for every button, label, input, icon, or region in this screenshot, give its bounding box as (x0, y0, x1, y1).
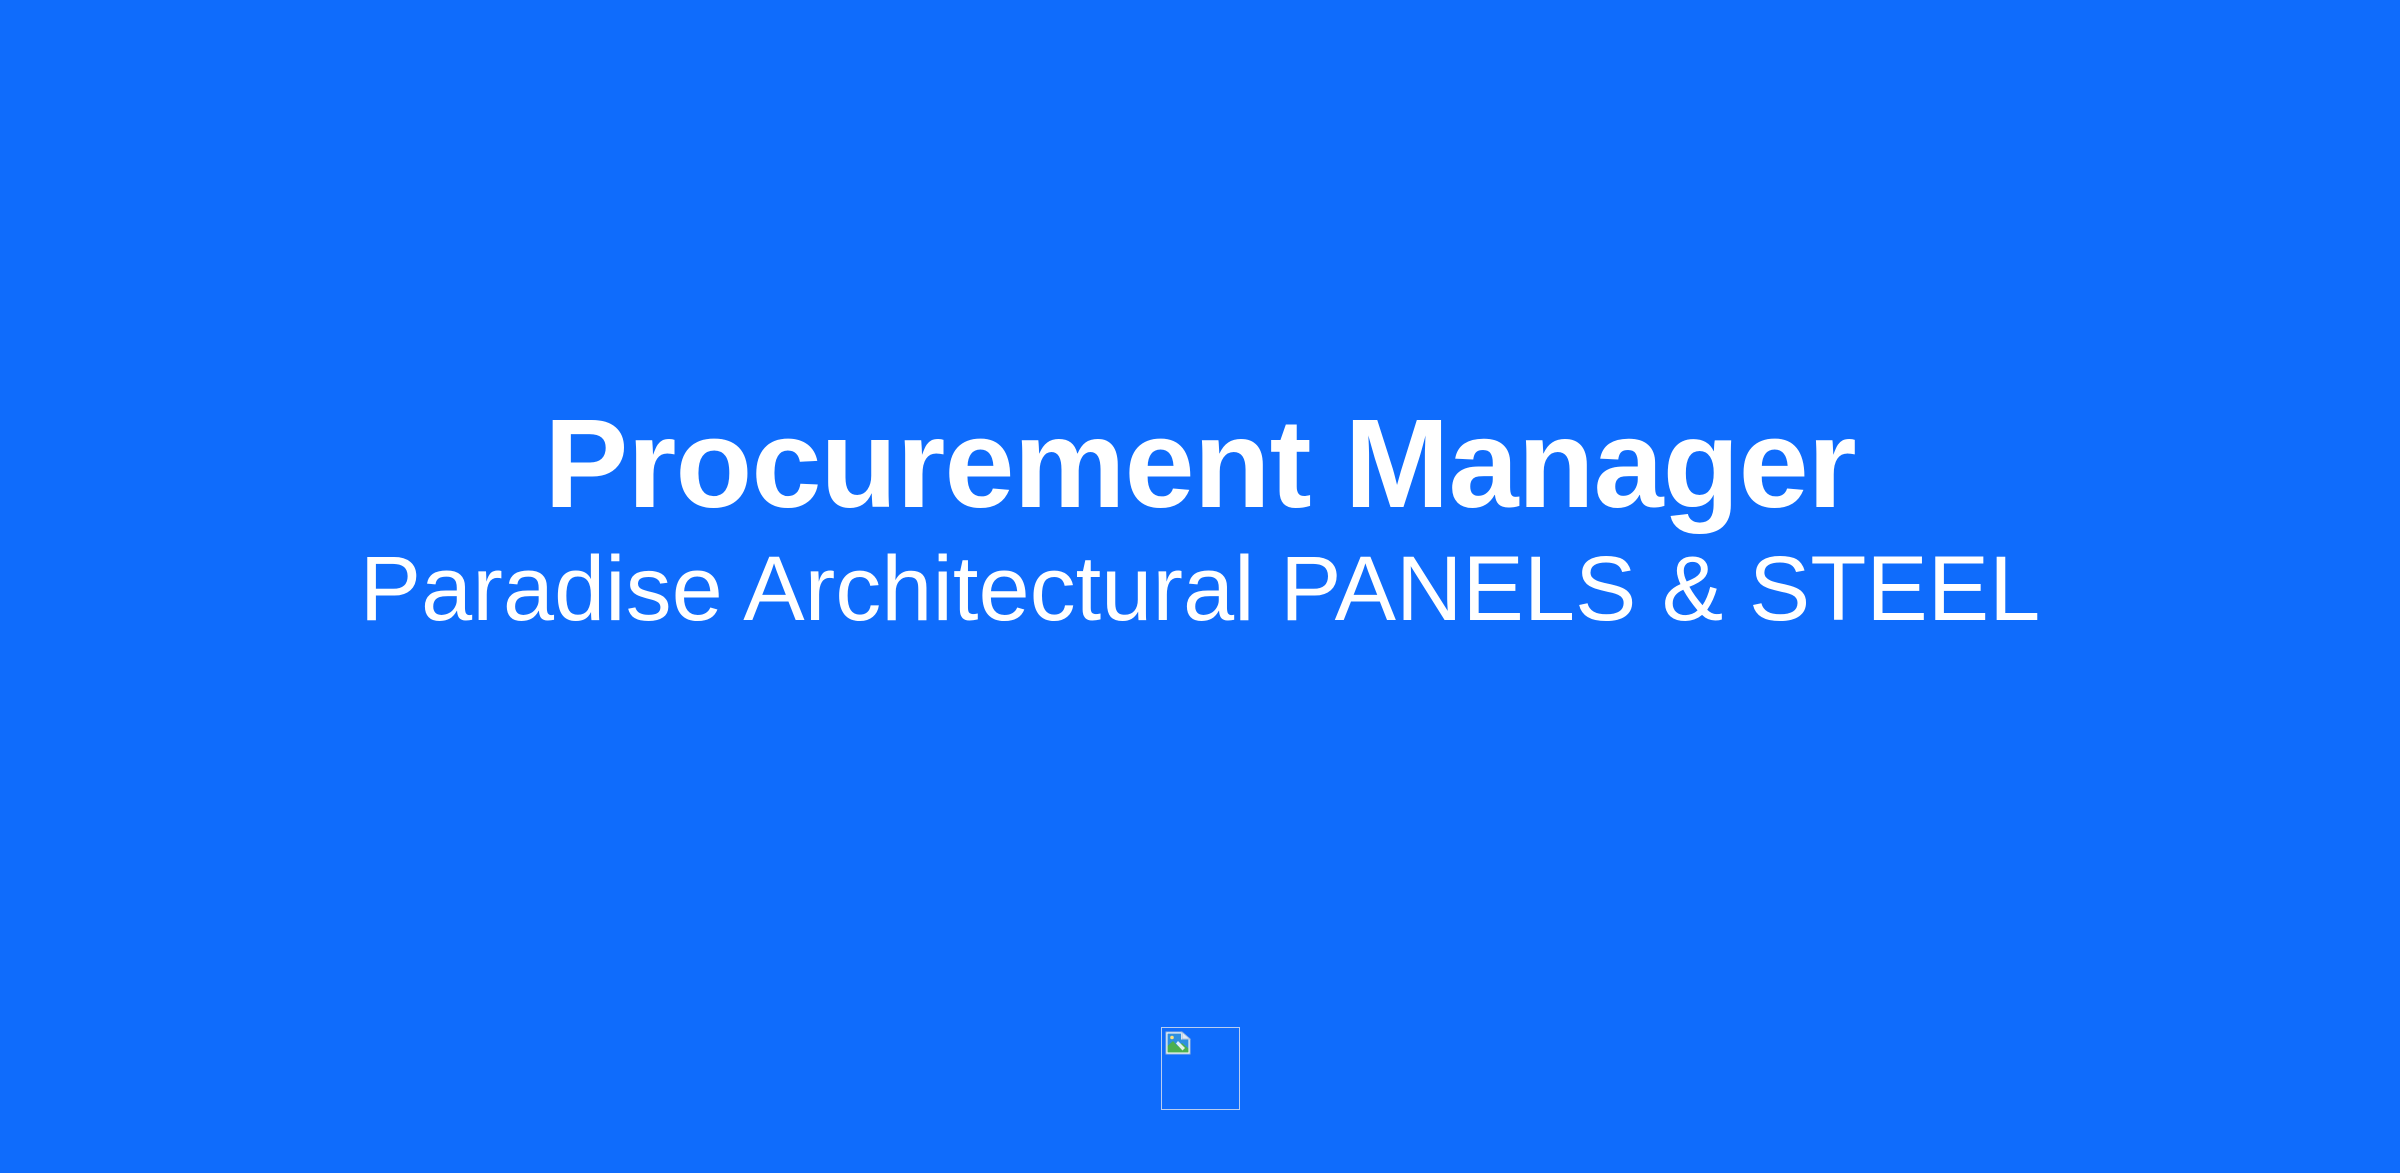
page-subtitle: Paradise Architectural PANELS & STEEL (360, 543, 2041, 635)
hero-block: Procurement Manager Paradise Architectur… (0, 0, 2400, 1173)
broken-image-icon (1165, 1031, 1191, 1055)
slide-canvas: Procurement Manager Paradise Architectur… (0, 0, 2400, 1173)
broken-image-placeholder[interactable] (1161, 1027, 1240, 1110)
page-title: Procurement Manager (544, 401, 1855, 527)
